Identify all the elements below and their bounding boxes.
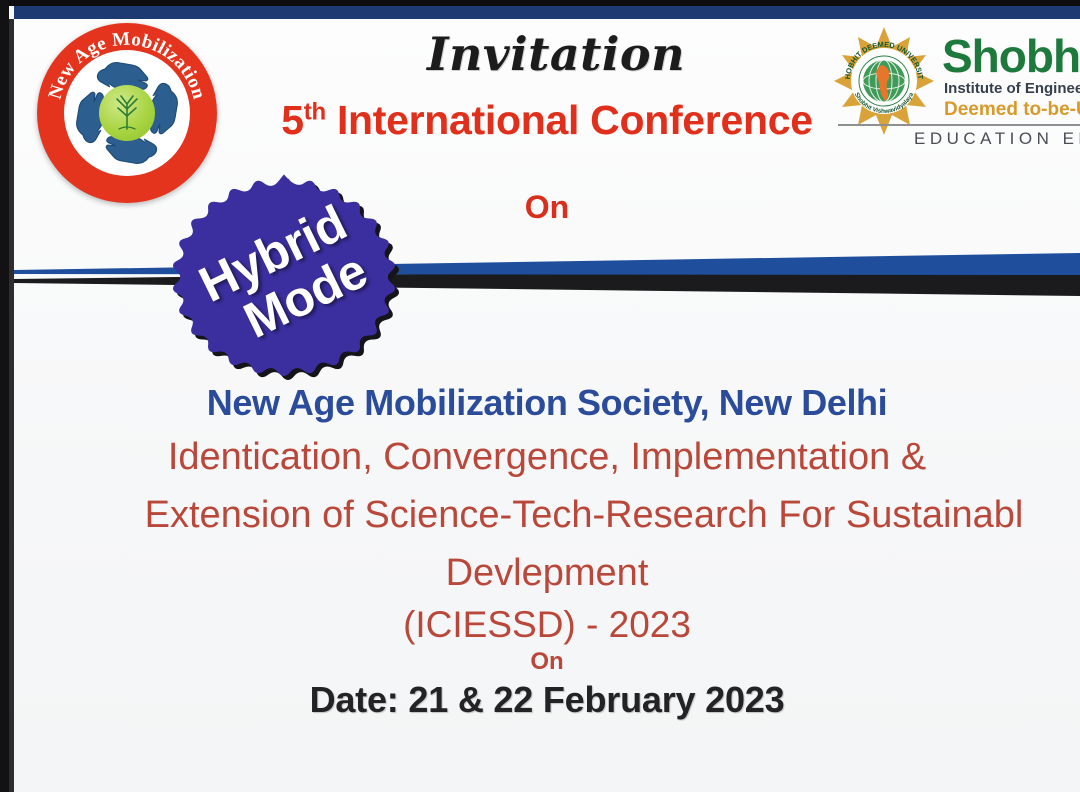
conference-number: 5 [281, 97, 304, 143]
shobhit-logo: SHOBHIT DEEMED UNIVERSITY Shobhit Vishwa… [820, 19, 1080, 149]
conference-theme: Identication, Convergence, Implementatio… [14, 429, 1080, 602]
theme-line-2: Extension of Science-Tech-Research For S… [88, 487, 1080, 545]
top-blue-band [14, 6, 1080, 19]
shobhit-tagline-deemed: Deemed to-be-Un [944, 99, 1080, 121]
date-line: Date: 21 & 22 February 2023 [14, 679, 1080, 721]
conference-ordinal: th [304, 98, 326, 125]
shobhit-tagline-education: EDUCATION EMPO [914, 129, 1080, 149]
hybrid-mode-badge: Hybrid Mode [160, 168, 408, 386]
theme-line-3: Devlepment [14, 545, 1080, 603]
shobhit-wordmark: Shobh [942, 33, 1080, 79]
shobhit-tagline-institute: Institute of Engineering & T [944, 80, 1080, 97]
organizer-line: New Age Mobilization Society, New Delhi [14, 382, 1080, 424]
left-frame-border [0, 0, 9, 792]
shobhit-emblem-icon: SHOBHIT DEEMED UNIVERSITY Shobhit Vishwa… [830, 27, 938, 135]
invitation-label: Invitation [409, 27, 685, 81]
shobhit-divider-rule [838, 124, 1080, 126]
badge-starburst-shape [160, 168, 408, 386]
poster-body: New Age Mobilization Society, New Delhi … [14, 382, 1080, 721]
invitation-poster: New Age Mobilization [0, 0, 1080, 792]
on-label-bottom: On [14, 648, 1080, 676]
acronym-year-line: (ICIESSD) - 2023 [14, 604, 1080, 646]
theme-line-1: Identication, Convergence, Implementatio… [14, 429, 1080, 487]
conference-title-main: International Conference [337, 97, 813, 143]
